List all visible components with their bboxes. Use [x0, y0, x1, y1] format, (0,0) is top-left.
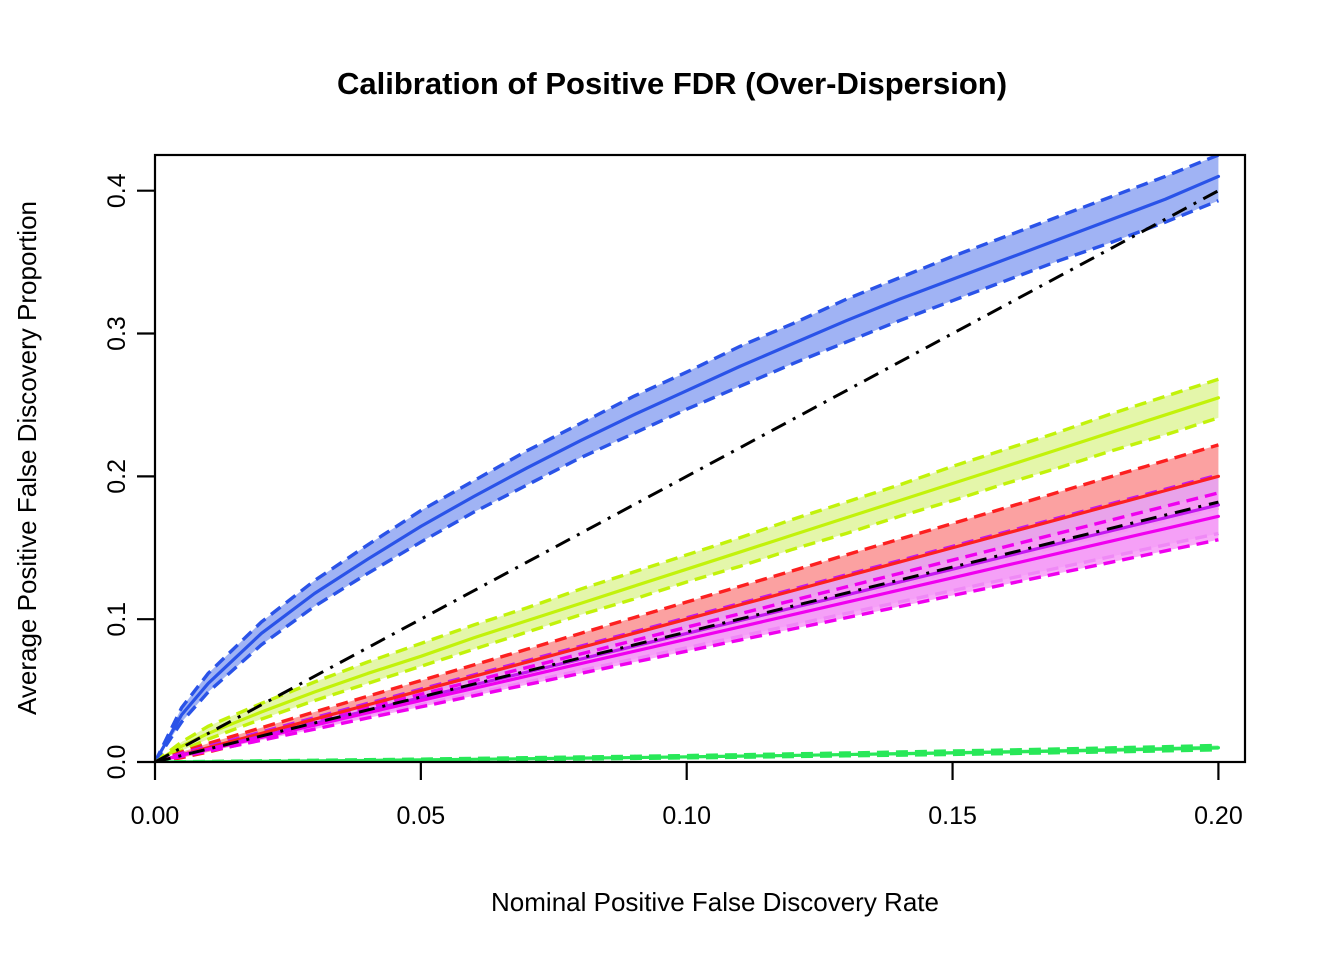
x-tick-label: 0.10: [662, 802, 711, 830]
chart-root: Calibration of Positive FDR (Over-Disper…: [0, 0, 1344, 960]
y-tick-label: 0.0: [103, 745, 131, 780]
x-tick-label: 0.20: [1194, 802, 1243, 830]
chart-svg: Calibration of Positive FDR (Over-Disper…: [0, 0, 1344, 960]
x-tick-label: 0.15: [928, 802, 977, 830]
x-tick-label: 0.05: [397, 802, 446, 830]
x-axis-label: Nominal Positive False Discovery Rate: [491, 887, 939, 917]
y-tick-label: 0.2: [103, 459, 131, 494]
y-tick-label: 0.3: [103, 316, 131, 351]
chart-title: Calibration of Positive FDR (Over-Disper…: [337, 66, 1007, 101]
y-tick-label: 0.1: [103, 602, 131, 637]
y-tick-label: 0.4: [103, 173, 131, 208]
x-tick-label: 0.00: [131, 802, 180, 830]
y-axis-label: Average Positive False Discovery Proport…: [12, 201, 42, 715]
